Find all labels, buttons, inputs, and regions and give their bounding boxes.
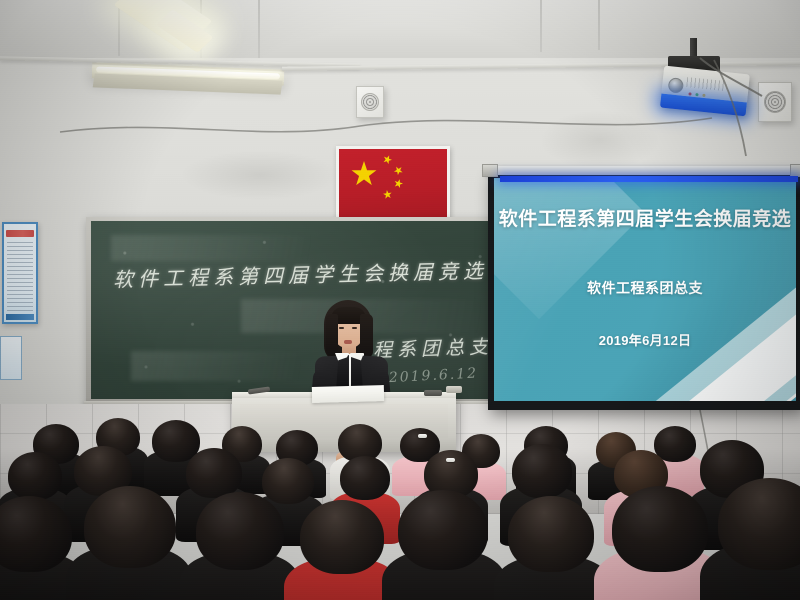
- classroom-photo-scene: 软件工程系第四届学生会换届竞选 程系团总支 2019.6.12 软件工程系第四届…: [0, 0, 800, 600]
- audience-head: [84, 486, 176, 568]
- hair-clip: [446, 458, 455, 462]
- audience-head: [512, 444, 572, 498]
- audience-head: [508, 496, 594, 572]
- audience: [0, 0, 800, 600]
- audience-head: [340, 456, 390, 500]
- audience-head: [300, 500, 384, 574]
- audience-head: [8, 452, 62, 500]
- hair-clip: [418, 434, 427, 438]
- audience-head: [398, 490, 488, 570]
- audience-head: [196, 492, 284, 570]
- audience-head: [262, 458, 314, 504]
- audience-head: [612, 486, 708, 572]
- audience-head: [186, 448, 242, 498]
